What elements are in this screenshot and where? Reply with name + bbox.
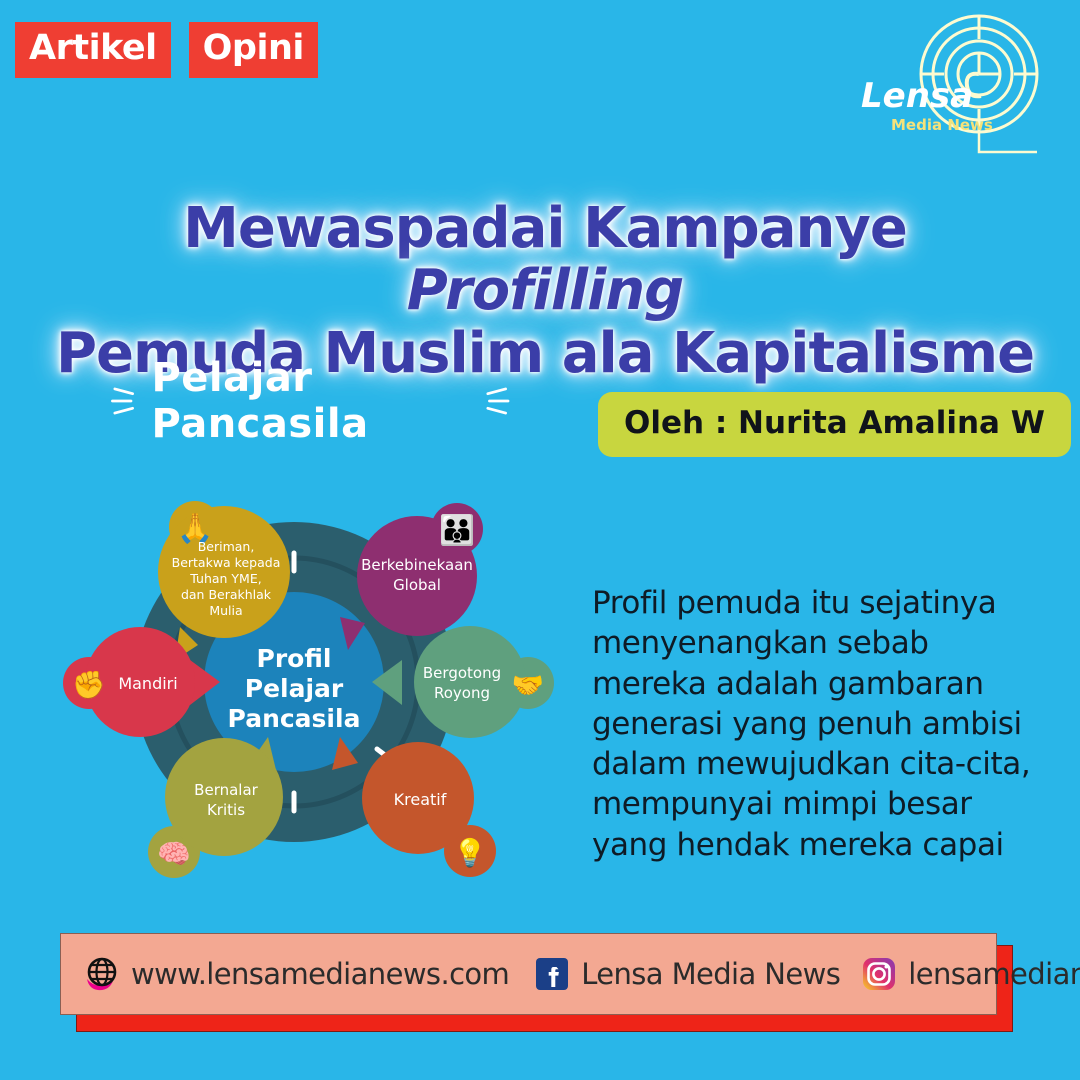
footer-instagram[interactable]: lensamedianews [860,955,1080,993]
footer-instagram-label: lensamedianews [908,957,1080,991]
node-kreatif-label: Kreatif [394,790,447,809]
center-line-3: Pancasila [228,704,361,733]
node-beriman-line-2: Bertakwa kepada [172,555,281,570]
node-berkebinekaan-line-2: Global [393,576,441,594]
sparkle-left-icon [110,378,137,424]
badge-opini[interactable]: Opini [189,22,318,78]
instagram-icon [860,955,898,993]
article-excerpt: Profil pemuda itu sejatinya menyenangkan… [592,583,1042,865]
title-line1-italic: Profilling [407,258,684,323]
sparkle-right-icon [483,378,510,424]
center-line-1: Profil [257,644,332,673]
lensa-logo: Lensa Media News [841,12,1056,162]
node-berkebinekaan-line-1: Berkebinekaan [361,556,473,574]
lightbulb-icon: 💡 [453,837,487,869]
author-badge: Oleh : Nurita Amalina W [598,392,1071,457]
badge-artikel[interactable]: Artikel [15,22,171,78]
pelajar-pancasila-diagram: Profil Pelajar Pancasila 🙏 Beriman, Bert… [30,445,570,915]
node-beriman-line-1: Beriman, [198,539,255,554]
critical-thinking-icon: 🧠 [157,839,191,870]
center-line-2: Pelajar [245,674,344,703]
node-bernalar-line-2: Kritis [207,801,245,819]
node-beriman-line-3: Tuhan YME, [189,571,261,586]
node-bergotong-line-1: Bergotong [423,664,501,682]
footer-facebook[interactable]: Lensa Media News [533,955,840,993]
logo-brand-text: Lensa [861,76,973,116]
node-beriman-line-4: dan Berakhlak [181,587,272,602]
raised-fist-icon: ✊ [72,670,106,701]
node-bernalar-line-1: Bernalar [194,781,258,799]
section-heading-pelajar-pancasila: Pelajar Pancasila [110,368,510,434]
people-heart-icon: 👪 [439,513,475,547]
category-badges: Artikel Opini [15,22,318,78]
facebook-icon [533,955,571,993]
title-line1-part1: Mewaspadai Kampanye [183,196,907,261]
globe-icon [83,955,121,993]
poster-canvas: Artikel Opini Lensa Media News Mewaspada… [0,0,1080,1080]
teamwork-table-icon: 🤝 [512,671,544,701]
footer-bar: www.lensamedianews.com Lensa Media News [60,933,997,1015]
logo-tagline-text: Media News [891,116,993,134]
footer-facebook-label: Lensa Media News [581,957,840,991]
section-heading-label: Pelajar Pancasila [151,355,468,447]
footer-website[interactable]: www.lensamedianews.com [83,955,509,993]
node-beriman-line-5: Mulia [209,603,242,618]
node-bergotong-line-2: Royong [434,684,490,702]
footer-website-label: www.lensamedianews.com [131,957,509,991]
node-mandiri-label: Mandiri [118,674,177,693]
